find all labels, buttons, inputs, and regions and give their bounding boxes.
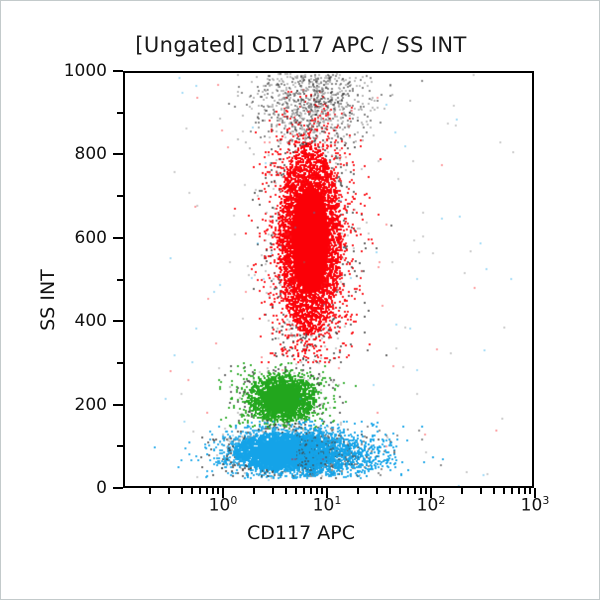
x-tick-minor: [191, 488, 193, 494]
plot-area[interactable]: [123, 71, 534, 488]
y-tick-label: 1000: [37, 61, 107, 81]
x-tick-minor: [518, 488, 520, 494]
y-tick-major: [113, 70, 123, 72]
x-tick-minor: [285, 488, 287, 494]
x-tick-minor: [461, 488, 463, 494]
y-tick-label: 600: [37, 228, 107, 248]
y-tick-minor: [117, 195, 123, 197]
x-tick-minor: [310, 488, 312, 494]
x-tick-minor: [295, 488, 297, 494]
page-title: [Ungated] CD117 APC / SS INT: [1, 33, 600, 57]
x-tick-minor: [493, 488, 495, 494]
x-tick-minor: [199, 488, 201, 494]
x-tick-minor: [149, 488, 151, 494]
scatter-plot-canvas[interactable]: [125, 73, 532, 486]
x-tick-minor: [168, 488, 170, 494]
y-tick-label: 0: [37, 478, 107, 498]
x-tick-minor: [181, 488, 183, 494]
y-tick-minor: [117, 362, 123, 364]
x-tick-minor: [357, 488, 359, 494]
x-tick-minor: [303, 488, 305, 494]
flow-cytometry-plot-window: [Ungated] CD117 APC / SS INT 02004006008…: [0, 0, 600, 600]
x-tick-minor: [480, 488, 482, 494]
x-tick-minor: [253, 488, 255, 494]
y-tick-major: [113, 320, 123, 322]
y-tick-minor: [117, 445, 123, 447]
x-tick-label: 100: [209, 494, 238, 516]
x-tick-minor: [414, 488, 416, 494]
y-tick-minor: [117, 279, 123, 281]
y-tick-major: [113, 404, 123, 406]
x-tick-minor: [407, 488, 409, 494]
y-tick-major: [113, 237, 123, 239]
x-tick-minor: [272, 488, 274, 494]
x-tick-minor: [511, 488, 513, 494]
y-axis-title: SS INT: [37, 269, 59, 331]
y-tick-label: 800: [37, 144, 107, 164]
x-tick-minor: [376, 488, 378, 494]
y-tick-major: [113, 487, 123, 489]
x-tick-minor: [399, 488, 401, 494]
x-tick-label: 103: [521, 494, 550, 516]
x-axis-title: CD117 APC: [1, 522, 600, 544]
y-tick-minor: [117, 112, 123, 114]
y-tick-major: [113, 153, 123, 155]
x-tick-minor: [503, 488, 505, 494]
x-tick-label: 102: [417, 494, 446, 516]
x-tick-minor: [389, 488, 391, 494]
x-tick-minor: [206, 488, 208, 494]
y-tick-label: 200: [37, 395, 107, 415]
x-tick-label: 101: [313, 494, 342, 516]
